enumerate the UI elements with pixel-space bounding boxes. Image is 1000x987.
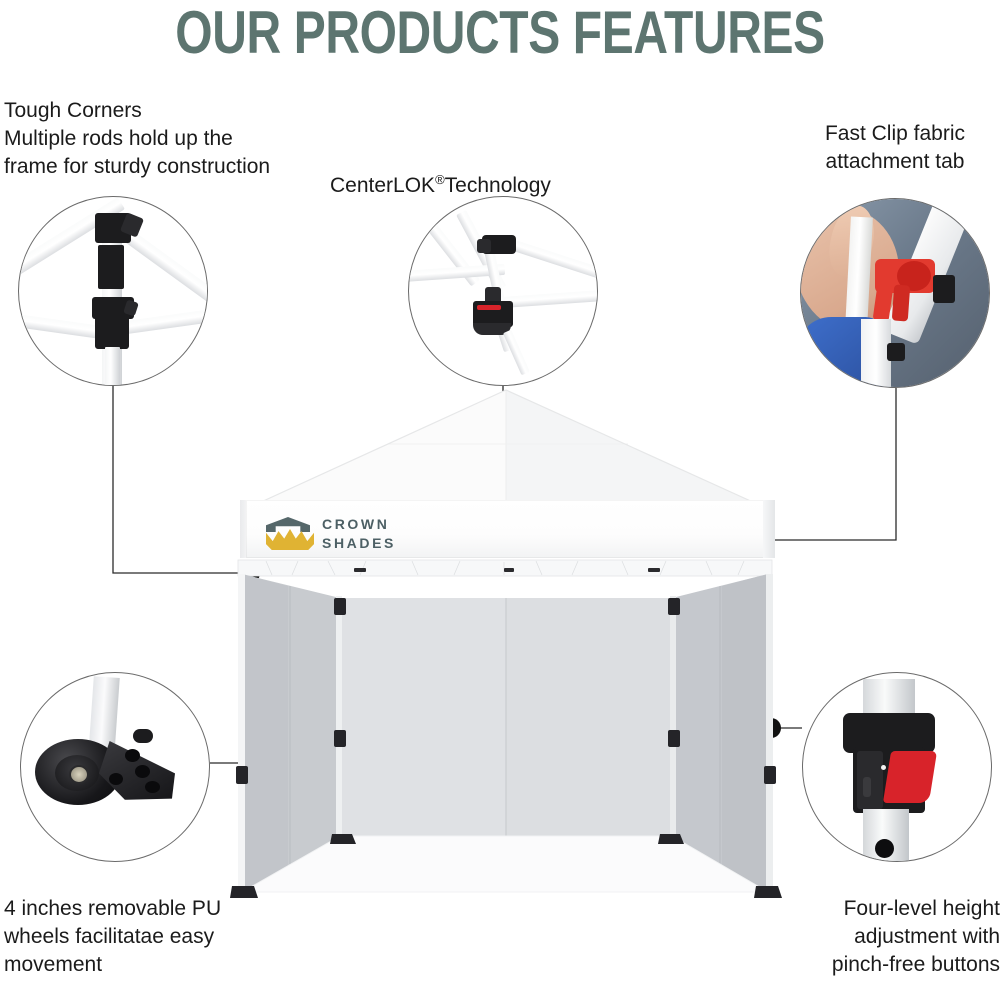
page-title: OUR PRODUCTS FEATURES bbox=[100, 2, 900, 64]
centerlok-label: CenterLOK bbox=[330, 174, 435, 197]
callout-image-height-adjustment bbox=[802, 672, 992, 862]
logo-roof-icon bbox=[266, 517, 310, 532]
logo-text-shades: SHADES bbox=[322, 534, 396, 553]
registered-mark: ® bbox=[435, 172, 445, 187]
product-canopy-tent: CROWN SHADES bbox=[228, 378, 784, 898]
callout-image-tough-corners bbox=[18, 196, 208, 386]
logo-crown-icon bbox=[266, 529, 314, 550]
callout-image-centerlok bbox=[408, 196, 598, 386]
callout-image-pu-wheels bbox=[20, 672, 210, 862]
callout-caption-centerlok: CenterLOK®Technology bbox=[330, 138, 690, 200]
callout-caption-tough-corners: Tough Corners Multiple rods hold up the … bbox=[4, 97, 364, 181]
logo-text-crown: CROWN bbox=[322, 515, 396, 534]
callout-caption-fast-clip: Fast Clip fabric attachment tab bbox=[790, 120, 1000, 176]
crown-shades-logo: CROWN SHADES bbox=[266, 515, 386, 553]
callout-image-fast-clip bbox=[800, 198, 990, 388]
valance-right-edge bbox=[763, 500, 775, 558]
centerlok-suffix: Technology bbox=[445, 174, 551, 197]
callout-caption-height-adjustment: Four-level height adjustment with pinch-… bbox=[770, 895, 1000, 979]
canopy-sidewalls bbox=[228, 574, 784, 934]
feature-infographic: OUR PRODUCTS FEATURES Tough Corners Mult… bbox=[0, 0, 1000, 987]
